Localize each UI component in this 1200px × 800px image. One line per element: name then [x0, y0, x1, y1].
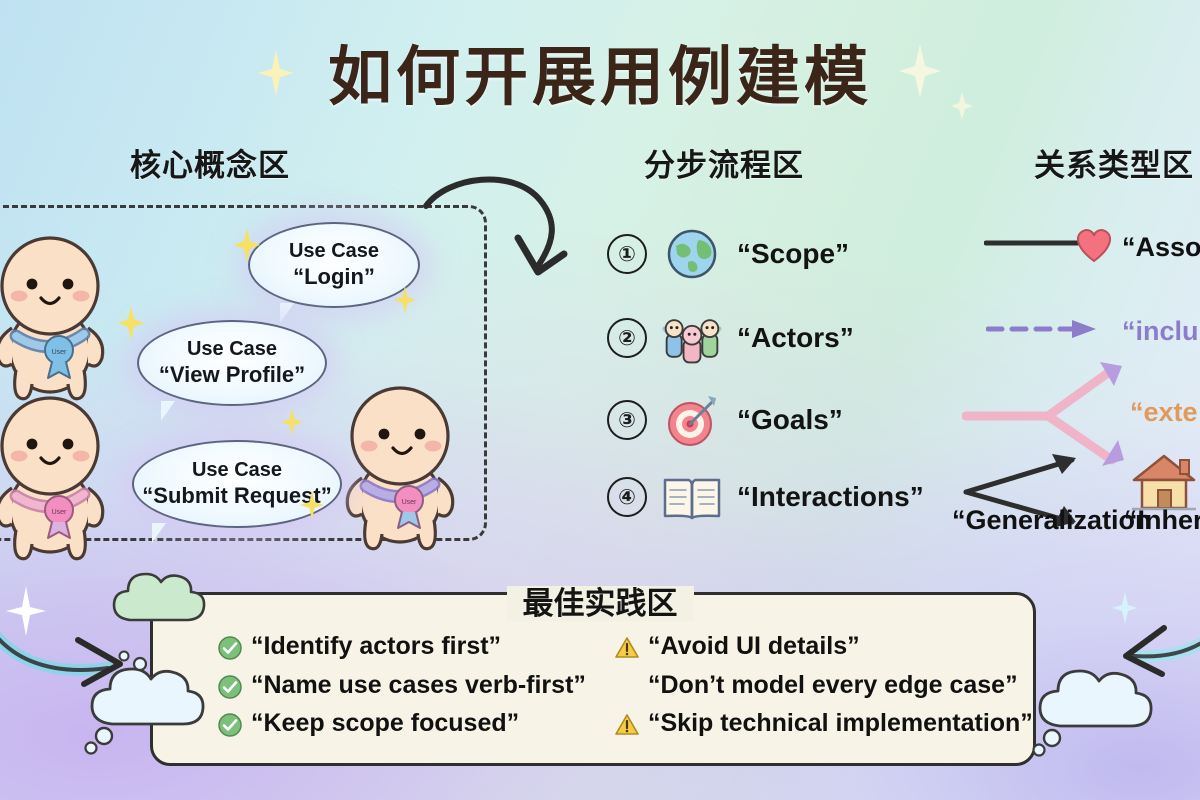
bubble-line-2: “Submit Request”: [142, 483, 331, 509]
relation-label-association: “Associa: [1122, 232, 1200, 263]
actor-blue: User: [0, 232, 114, 407]
best-practices-do-list: “Identify actors first” “Name use cases …: [218, 632, 586, 739]
list-item-text: “Avoid UI details”: [648, 632, 860, 662]
heart-icon: [1073, 225, 1115, 268]
step-number: ①: [607, 234, 647, 274]
list-item: “Avoid UI details”: [615, 632, 1033, 662]
check-icon: [218, 636, 242, 660]
use-case-bubble-submit-request: Use Case “Submit Request”: [132, 440, 342, 528]
step-number: ③: [607, 400, 647, 440]
list-item: “Name use cases verb-first”: [218, 671, 586, 701]
best-practices-avoid-list: “Avoid UI details” “Don’t model every ed…: [615, 632, 1033, 739]
bubble-line-1: Use Case: [192, 459, 282, 483]
relation-label-extend: “exte: [1130, 397, 1198, 428]
list-item-text: “Don’t model every edge case”: [648, 671, 1018, 701]
svg-text:User: User: [52, 509, 67, 516]
step-label: “Interactions”: [737, 481, 924, 513]
use-case-bubble-view-profile: Use Case “View Profile”: [137, 320, 327, 406]
dashed-arrow-icon: [986, 318, 1102, 345]
open-book-icon: [661, 470, 723, 524]
step-label: “Goals”: [737, 404, 843, 436]
list-item-text: “Name use cases verb-first”: [251, 671, 586, 701]
relation-label-inheritance: “Inherit: [1124, 505, 1200, 536]
list-item: “Skip technical implementation”: [615, 709, 1033, 739]
page-title: 如何开展用例建模: [0, 26, 1200, 118]
warning-icon: [615, 636, 639, 660]
section-heading-core: 核心概念区: [130, 140, 290, 185]
svg-text:User: User: [402, 499, 417, 506]
globe-icon: [661, 228, 723, 280]
step-row-4: ④ “Interactions”: [607, 470, 924, 524]
relation-label-include: “inclu: [1122, 316, 1199, 347]
step-row-3: ③ “Goals”: [607, 392, 843, 448]
step-label: “Scope”: [737, 238, 849, 270]
list-item: “Keep scope focused”: [218, 709, 586, 739]
step-row-2: ② “Actors”: [607, 310, 854, 366]
actor-pink: User: [0, 392, 114, 567]
actor-purple: User: [336, 382, 464, 557]
people-icon: [661, 310, 723, 366]
check-icon: [218, 713, 242, 737]
bubble-line-2: “View Profile”: [159, 362, 305, 388]
target-icon: [661, 392, 723, 448]
list-item: “Don’t model every edge case”: [615, 671, 1033, 701]
use-case-bubble-login: Use Case “Login”: [248, 222, 420, 308]
step-number: ②: [607, 318, 647, 358]
bubble-line-2: “Login”: [293, 264, 375, 290]
curved-arrow-icon: [418, 170, 588, 295]
list-item-text: “Skip technical implementation”: [648, 709, 1033, 739]
section-heading-best: 最佳实践区: [0, 578, 1200, 623]
list-item-text: “Keep scope focused”: [251, 709, 519, 739]
check-icon: [218, 675, 242, 699]
step-row-1: ① “Scope”: [607, 228, 849, 280]
section-heading-relations: 关系类型区: [1034, 140, 1194, 185]
list-item: “Identify actors first”: [218, 632, 586, 662]
bubble-line-1: Use Case: [187, 338, 277, 362]
step-number: ④: [607, 477, 647, 517]
list-item-text: “Identify actors first”: [251, 632, 501, 662]
best-practices-title-text: 最佳实践区: [507, 586, 694, 621]
association-line-icon: [984, 236, 1080, 255]
section-heading-steps: 分步流程区: [644, 140, 804, 185]
relation-label-generalization: “Generalization: [952, 505, 1152, 536]
bubble-line-1: Use Case: [289, 240, 379, 264]
warning-icon: [615, 713, 639, 737]
infographic-canvas: 如何开展用例建模 核心概念区 分步流程区 关系类型区: [0, 0, 1200, 800]
step-label: “Actors”: [737, 322, 854, 354]
svg-text:User: User: [52, 349, 67, 356]
